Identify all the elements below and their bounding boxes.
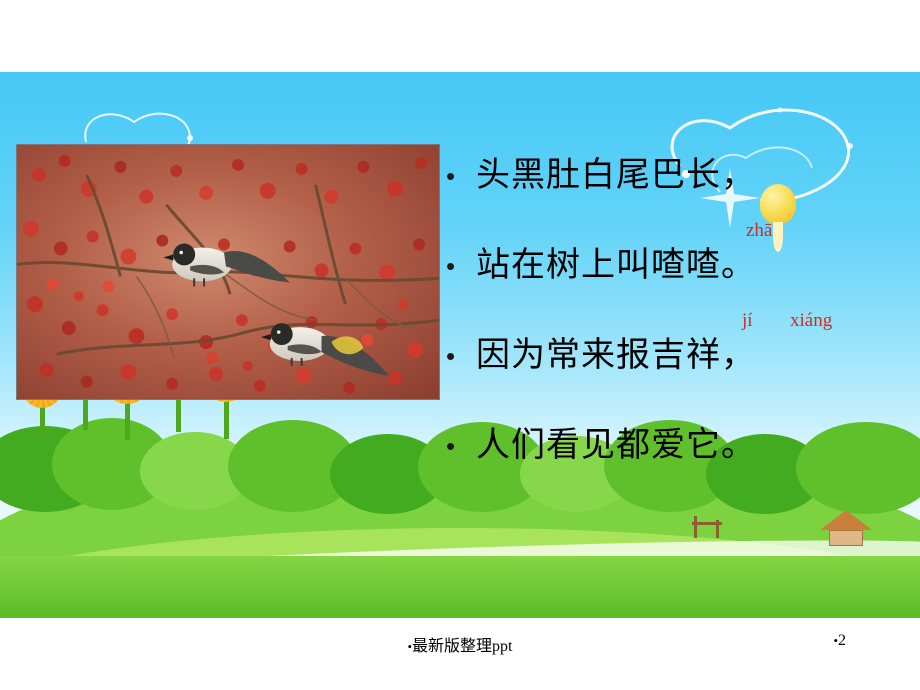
verse-line: • 因为常来报吉祥， jí xiáng (446, 330, 906, 386)
pinyin-annotation: xiáng (790, 310, 832, 332)
hut-body-icon (829, 530, 863, 546)
verse-text-block: • 头黑肚白尾巴长， • 站在树上叫喳喳。 zhā • 因为常来报吉祥， jí … (446, 150, 906, 510)
bullet-icon: • (446, 240, 476, 292)
verse-line: • 头黑肚白尾巴长， (446, 150, 906, 206)
bird-photo-image (17, 145, 439, 400)
pinyin-annotation: zhā (746, 220, 772, 242)
hut-roof-icon (820, 510, 872, 530)
verse-line: • 站在树上叫喳喳。 zhā (446, 240, 906, 296)
footer-text: 最新版整理ppt (412, 638, 512, 655)
slide-canvas: • 头黑肚白尾巴长， • 站在树上叫喳喳。 zhā • 因为常来报吉祥， jí … (0, 0, 920, 690)
fence-post (694, 516, 697, 538)
bird-photo (16, 144, 440, 400)
verse-line-text: 头黑肚白尾巴长， (476, 150, 756, 202)
pinyin-annotation: jí (742, 310, 753, 332)
footer-page-number: •2 (833, 632, 846, 650)
bullet-icon: • (446, 420, 476, 472)
footer-center: •最新版整理ppt (0, 632, 920, 656)
verse-line: • 人们看见都爱它。 (446, 420, 906, 476)
verse-line-text: 因为常来报吉祥， (476, 330, 756, 382)
bullet-icon: • (446, 150, 476, 202)
verse-line-text: 站在树上叫喳喳。 (476, 240, 756, 292)
bullet-icon: • (446, 330, 476, 382)
verse-line-text: 人们看见都爱它。 (476, 420, 756, 472)
page-number: 2 (838, 632, 846, 649)
grass-strip (0, 556, 920, 618)
fence-rail (692, 522, 722, 525)
